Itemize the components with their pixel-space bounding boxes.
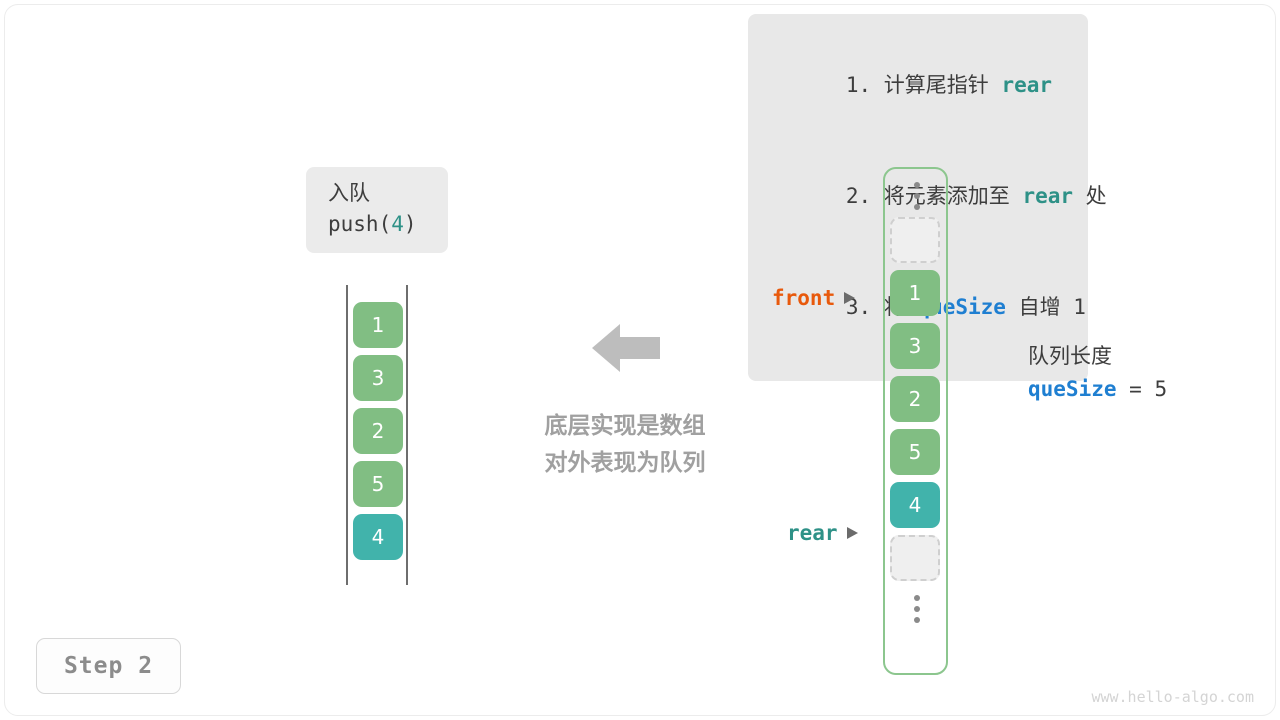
- operation-label-cn: 入队: [328, 178, 448, 208]
- instruction-line-1-keyword: rear: [1001, 73, 1052, 97]
- operation-code-arg: 4: [391, 212, 404, 236]
- operation-code-prefix: push(: [328, 212, 391, 236]
- array-slot: 3: [890, 323, 940, 369]
- array-slot-empty: [890, 535, 940, 581]
- arrow-right-icon: [847, 527, 858, 539]
- queue-size-equals: = 5: [1117, 377, 1168, 401]
- queue-size-value: queSize = 5: [1028, 372, 1167, 406]
- queue-size-label: 队列长度: [1028, 340, 1167, 372]
- center-caption-line1: 底层实现是数组: [500, 408, 750, 445]
- pointer-label-rear: rear: [787, 521, 858, 545]
- queue-cell: 3: [353, 355, 403, 401]
- queue-cell: 5: [353, 461, 403, 507]
- arrow-right-icon: [844, 292, 855, 304]
- array-slot: 2: [890, 376, 940, 422]
- array-slot: 5: [890, 429, 940, 475]
- array-slot-empty: [890, 217, 940, 263]
- instruction-line-1-prefix: 1. 计算尾指针: [846, 73, 1002, 97]
- queue-cell: 1: [353, 302, 403, 348]
- step-badge: Step 2: [36, 638, 181, 694]
- queue-cell-stack: 1 3 2 5 4: [353, 302, 403, 567]
- pointer-rear-text: rear: [787, 521, 838, 545]
- queue-size-note: 队列长度 queSize = 5: [1028, 340, 1167, 406]
- pointer-label-front: front: [772, 286, 855, 310]
- center-caption-line2: 对外表现为队列: [500, 445, 750, 482]
- instruction-line-3-suffix: 自增 1: [1006, 295, 1086, 319]
- watermark: www.hello-algo.com: [1091, 688, 1254, 706]
- array-slot: 1: [890, 270, 940, 316]
- array-slot-new: 4: [890, 482, 940, 528]
- queue-rail-right: [406, 285, 408, 585]
- queue-cell: 2: [353, 408, 403, 454]
- instruction-line-1: 1. 计算尾指针 rear: [748, 30, 1088, 141]
- vertical-ellipsis-icon-bottom: [890, 588, 943, 630]
- array-backing-view: 1 3 2 5 4: [883, 167, 948, 675]
- queue-cell-new: 4: [353, 514, 403, 560]
- operation-label-box: 入队 push(4): [306, 167, 448, 253]
- operation-code: push(4): [328, 208, 448, 240]
- arrow-left-icon: [592, 320, 660, 376]
- queue-size-varname: queSize: [1028, 377, 1117, 401]
- pointer-front-text: front: [772, 286, 835, 310]
- queue-abstract-view: 1 3 2 5 4: [345, 285, 411, 585]
- diagram-canvas: 1. 计算尾指针 rear 2. 将元素添加至 rear 处 3. 将 queS…: [0, 0, 1280, 720]
- center-caption: 底层实现是数组 对外表现为队列: [500, 408, 750, 482]
- instruction-line-2-keyword: rear: [1022, 184, 1073, 208]
- operation-code-suffix: ): [404, 212, 417, 236]
- instruction-line-2-suffix: 处: [1073, 184, 1107, 208]
- queue-rail-left: [346, 285, 348, 585]
- vertical-ellipsis-icon-top: [890, 175, 943, 217]
- array-slot-stack: 1 3 2 5 4: [890, 175, 943, 630]
